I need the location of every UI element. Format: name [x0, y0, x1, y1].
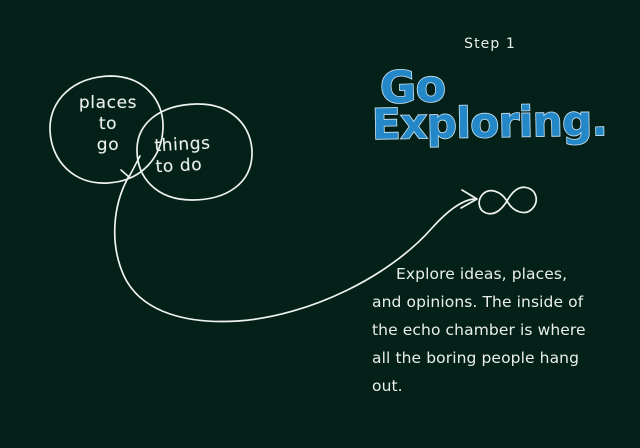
headline-line-exploring: Exploring.	[372, 96, 608, 149]
venn-label-places-to-go: places to go	[66, 93, 150, 156]
infinity-icon	[479, 187, 536, 213]
headline: Go Exploring.	[372, 62, 622, 162]
venn-label-things-to-do: things to do	[154, 132, 242, 178]
step-caption: Step 1	[400, 36, 580, 52]
slide-canvas: places to go things to do Step 1 Go Expl…	[0, 0, 640, 448]
body-paragraph: Explore ideas, places, and opinions. The…	[372, 260, 590, 400]
